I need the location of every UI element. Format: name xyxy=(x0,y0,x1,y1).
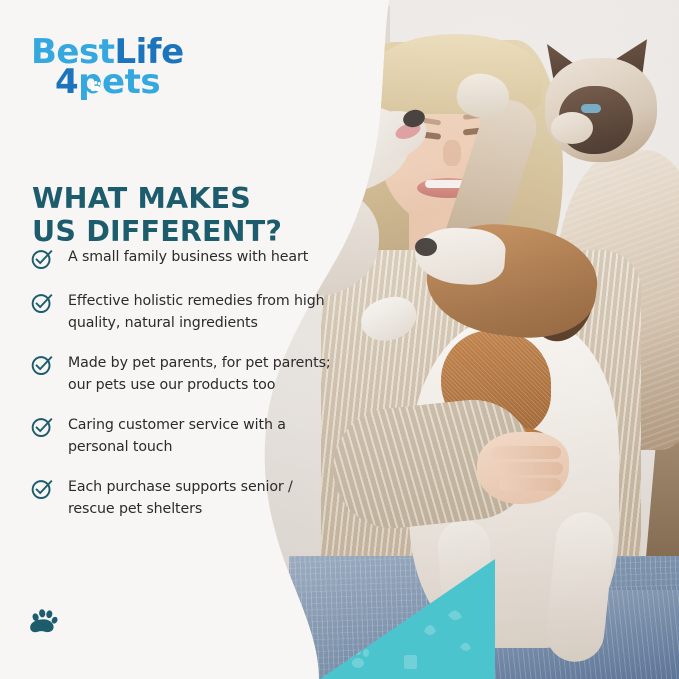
list-item: Each purchase supports senior / rescue p… xyxy=(31,477,341,520)
paw-icon xyxy=(90,81,103,92)
list-item: Made by pet parents, for pet parents; ou… xyxy=(31,353,341,396)
headline-line-1: WHAT MAKES xyxy=(32,182,251,215)
benefit-text: Each purchase supports senior / rescue p… xyxy=(68,477,333,520)
list-item: Effective holistic remedies from high qu… xyxy=(31,291,341,334)
check-circle-icon xyxy=(31,248,53,270)
brand-logo[interactable]: BestLife 4pets xyxy=(31,38,184,98)
logo-word-four: 4 xyxy=(55,62,78,102)
benefit-text: Effective holistic remedies from high qu… xyxy=(68,291,333,334)
paw-icon xyxy=(30,607,60,637)
headline-line-2: US DIFFERENT? xyxy=(32,215,282,248)
benefit-text: Made by pet parents, for pet parents; ou… xyxy=(68,353,333,396)
check-circle-icon xyxy=(31,478,53,500)
check-circle-icon xyxy=(31,416,53,438)
logo-line-2: 4pets xyxy=(55,68,184,98)
page-title: WHAT MAKES US DIFFERENT? xyxy=(32,182,322,248)
list-item: A small family business with heart xyxy=(31,247,341,270)
check-circle-icon xyxy=(31,354,53,376)
check-circle-icon xyxy=(31,292,53,314)
promo-image-canvas: BestLife 4pets WHAT MAKES US DIFFERENT? xyxy=(0,0,679,679)
list-item: Caring customer service with a personal … xyxy=(31,415,341,458)
benefit-text: A small family business with heart xyxy=(68,247,308,269)
content-panel: BestLife 4pets WHAT MAKES US DIFFERENT? xyxy=(0,0,340,679)
benefit-text: Caring customer service with a personal … xyxy=(68,415,333,458)
benefits-list: A small family business with heart Effec… xyxy=(31,247,341,540)
